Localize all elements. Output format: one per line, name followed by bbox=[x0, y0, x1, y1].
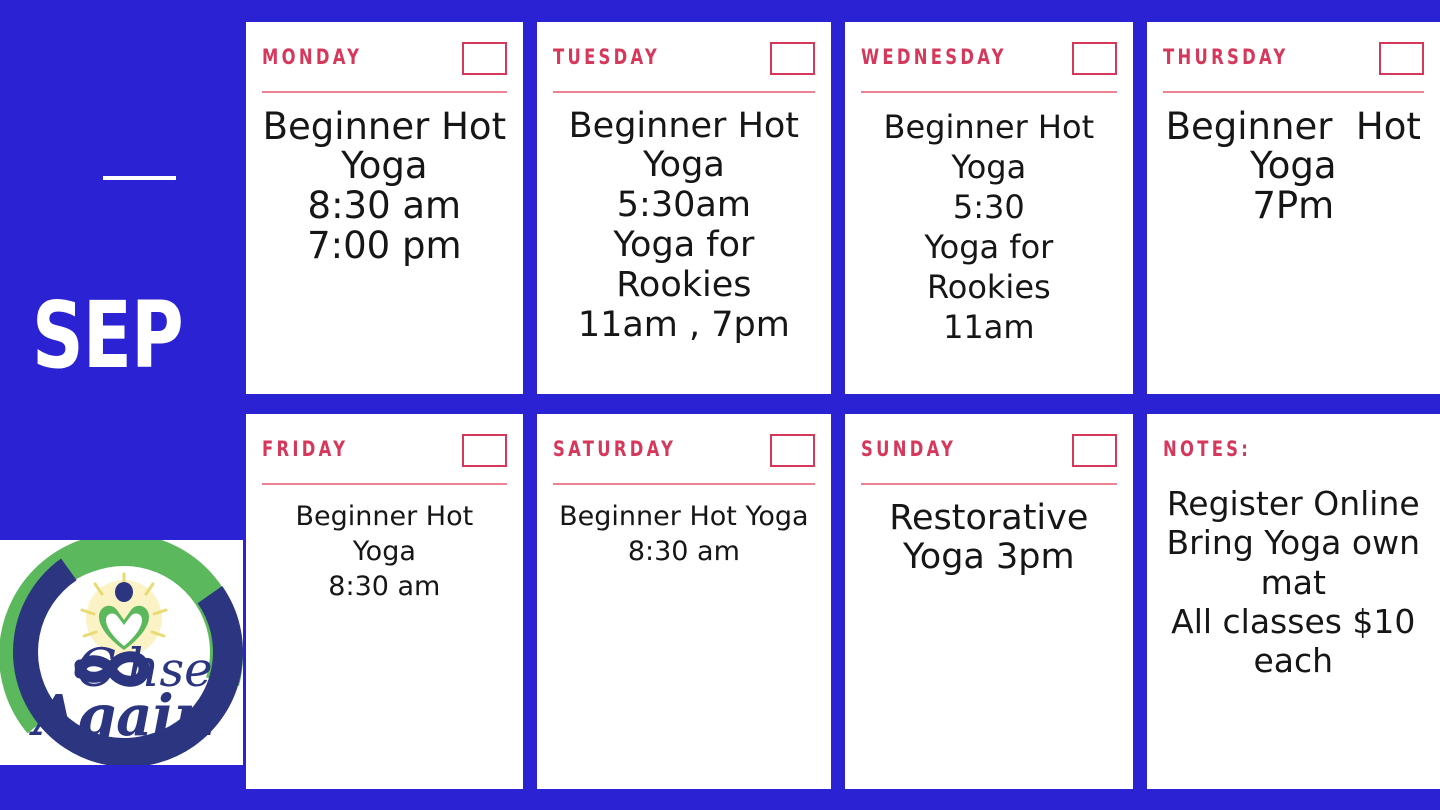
card-header: FRIDAY bbox=[262, 434, 507, 478]
empty-checkbox-icon[interactable] bbox=[770, 42, 815, 75]
day-card-thursday[interactable]: THURSDAY Beginner Hot Yoga 7Pm bbox=[1147, 22, 1440, 394]
card-header: THURSDAY bbox=[1163, 42, 1424, 86]
schedule-poster: SEP bbox=[0, 0, 1440, 810]
day-label-saturday: SATURDAY bbox=[553, 434, 676, 461]
empty-checkbox-icon[interactable] bbox=[1072, 434, 1117, 467]
day-label-thursday: THURSDAY bbox=[1163, 42, 1289, 69]
day-entries-sunday: Restorative Yoga 3pm bbox=[861, 485, 1117, 780]
day-card-wednesday[interactable]: WEDNESDAY Beginner Hot Yoga 5:30 Yoga fo… bbox=[845, 22, 1133, 394]
day-card-saturday[interactable]: SATURDAY Beginner Hot Yoga 8:30 am bbox=[537, 414, 831, 789]
notes-label: NOTES: bbox=[1163, 434, 1251, 461]
empty-checkbox-icon[interactable] bbox=[770, 434, 815, 467]
day-entries-saturday: Beginner Hot Yoga 8:30 am bbox=[553, 485, 815, 780]
choose-again-logo-mark: C h x se Again bbox=[0, 540, 243, 765]
card-header: MONDAY bbox=[262, 42, 507, 86]
day-entries-monday: Beginner Hot Yoga 8:30 am 7:00 pm bbox=[262, 93, 507, 385]
day-card-tuesday[interactable]: TUESDAY Beginner Hot Yoga 5:30am Yoga fo… bbox=[537, 22, 831, 394]
empty-checkbox-icon[interactable] bbox=[462, 42, 507, 75]
week-row-bottom: FRIDAY Beginner Hot Yoga 8:30 am SATURDA… bbox=[246, 414, 1440, 789]
day-card-sunday[interactable]: SUNDAY Restorative Yoga 3pm bbox=[845, 414, 1133, 789]
day-entries-wednesday: Beginner Hot Yoga 5:30 Yoga for Rookies … bbox=[861, 93, 1117, 385]
card-header: WEDNESDAY bbox=[861, 42, 1117, 86]
month-label: SEP bbox=[32, 292, 183, 379]
month-divider-rule bbox=[103, 176, 176, 180]
sidebar: SEP bbox=[0, 0, 246, 810]
day-label-sunday: SUNDAY bbox=[861, 434, 956, 461]
day-entries-thursday: Beginner Hot Yoga 7Pm bbox=[1163, 93, 1424, 385]
card-header: SUNDAY bbox=[861, 434, 1117, 478]
empty-checkbox-icon[interactable] bbox=[462, 434, 507, 467]
week-row-top: MONDAY Beginner Hot Yoga 8:30 am 7:00 pm… bbox=[246, 22, 1440, 394]
empty-checkbox-icon[interactable] bbox=[1379, 42, 1424, 75]
day-card-monday[interactable]: MONDAY Beginner Hot Yoga 8:30 am 7:00 pm bbox=[246, 22, 523, 394]
empty-checkbox-icon[interactable] bbox=[1072, 42, 1117, 75]
week-grid: MONDAY Beginner Hot Yoga 8:30 am 7:00 pm… bbox=[246, 22, 1440, 810]
card-header: NOTES: bbox=[1163, 434, 1424, 478]
notes-entries: Register Online Bring Yoga own mat All c… bbox=[1163, 478, 1424, 779]
notes-card[interactable]: NOTES: Register Online Bring Yoga own ma… bbox=[1147, 414, 1440, 789]
day-card-friday[interactable]: FRIDAY Beginner Hot Yoga 8:30 am bbox=[246, 414, 523, 789]
svg-text:Again: Again bbox=[29, 683, 215, 749]
card-header: TUESDAY bbox=[553, 42, 815, 86]
choose-again-logo: C h x se Again bbox=[0, 540, 243, 765]
card-header: SATURDAY bbox=[553, 434, 815, 478]
day-entries-friday: Beginner Hot Yoga 8:30 am bbox=[262, 485, 507, 780]
day-entries-tuesday: Beginner Hot Yoga 5:30am Yoga for Rookie… bbox=[553, 93, 815, 385]
day-label-monday: MONDAY bbox=[262, 42, 362, 69]
day-label-wednesday: WEDNESDAY bbox=[861, 42, 1007, 69]
day-label-friday: FRIDAY bbox=[262, 434, 348, 461]
day-label-tuesday: TUESDAY bbox=[553, 42, 660, 69]
